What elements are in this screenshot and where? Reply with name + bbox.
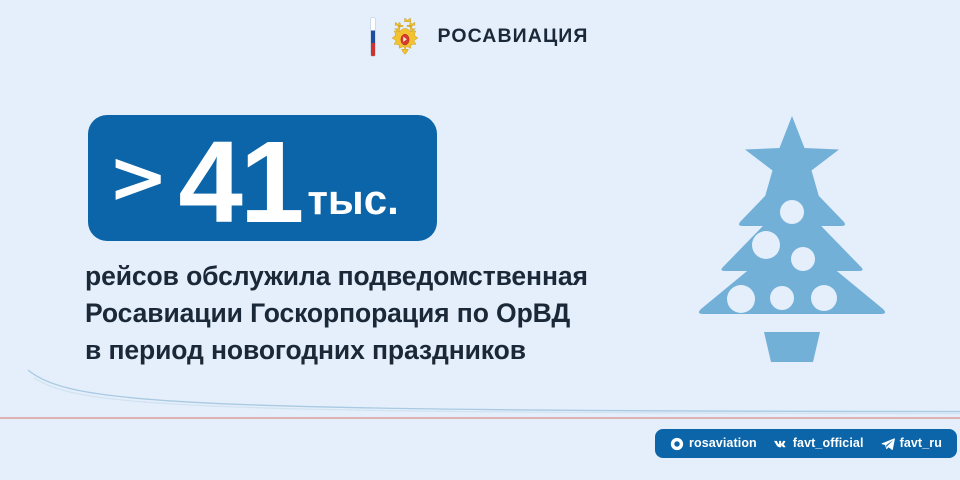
social-link-odnoklassniki[interactable]: rosaviation xyxy=(670,437,757,451)
stat-badge: > 41 тыс. xyxy=(88,115,437,241)
telegram-icon xyxy=(881,437,895,451)
greater-than-symbol: > xyxy=(108,141,168,213)
social-handle: favt_official xyxy=(793,437,864,450)
body-line-3: в период новогодних праздников xyxy=(85,332,705,369)
christmas-tree-illustration xyxy=(676,104,908,384)
body-copy: рейсов обслужила подведомственная Росави… xyxy=(85,258,705,369)
infographic-canvas: РОСАВИАЦИЯ > 41 тыс. рейсов обслужила по… xyxy=(0,0,960,480)
brand-wordmark: РОСАВИАЦИЯ xyxy=(437,27,588,47)
brand-logo: РОСАВИАЦИЯ xyxy=(0,14,960,60)
social-handle: rosaviation xyxy=(689,437,757,450)
social-link-vk[interactable]: favt_official xyxy=(774,437,864,451)
body-line-2: Росавиации Госкорпорация по ОрВД xyxy=(85,295,705,332)
stat-unit: тыс. xyxy=(307,179,398,221)
vk-icon xyxy=(774,437,788,451)
social-links-bar: rosaviation favt_official favt_ru xyxy=(655,429,957,458)
body-line-1: рейсов обслужила подведомственная xyxy=(85,258,705,295)
stat-value: 41 xyxy=(178,131,301,233)
tree-pot xyxy=(764,332,820,362)
social-handle: favt_ru xyxy=(900,437,942,450)
social-link-telegram[interactable]: favt_ru xyxy=(881,437,942,451)
russian-coat-of-arms-eagle xyxy=(384,14,426,60)
russian-tricolor-bar xyxy=(371,18,375,56)
odnoklassniki-icon xyxy=(670,437,684,451)
